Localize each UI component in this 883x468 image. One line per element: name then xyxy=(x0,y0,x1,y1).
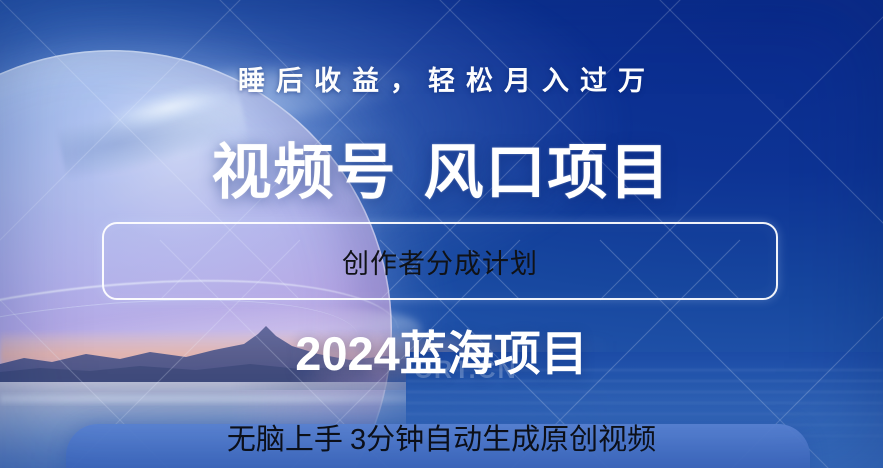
promo-poster: CRT.CN 睡后收益，轻松月入过万 视频号风口项目 创作者分成计划 2024蓝… xyxy=(0,0,883,468)
bottom-text-part2: 3分钟自动生成原创视频 xyxy=(350,424,656,456)
highlight-line: 2024蓝海项目 xyxy=(0,330,883,377)
tagline-top: 睡后收益，轻松月入过万 xyxy=(0,59,883,98)
subtitle-box-label: 创作者分成计划 xyxy=(342,242,538,281)
bottom-text-part1: 无脑上手 xyxy=(227,424,343,456)
main-title-part1: 视频号 xyxy=(212,139,398,206)
subtitle-box: 创作者分成计划 xyxy=(102,222,778,300)
main-title-part2: 风口项目 xyxy=(424,139,672,206)
bottom-feature-text: 无脑上手3分钟自动生成原创视频 xyxy=(0,416,883,458)
page-title: 视频号风口项目 xyxy=(0,143,883,203)
